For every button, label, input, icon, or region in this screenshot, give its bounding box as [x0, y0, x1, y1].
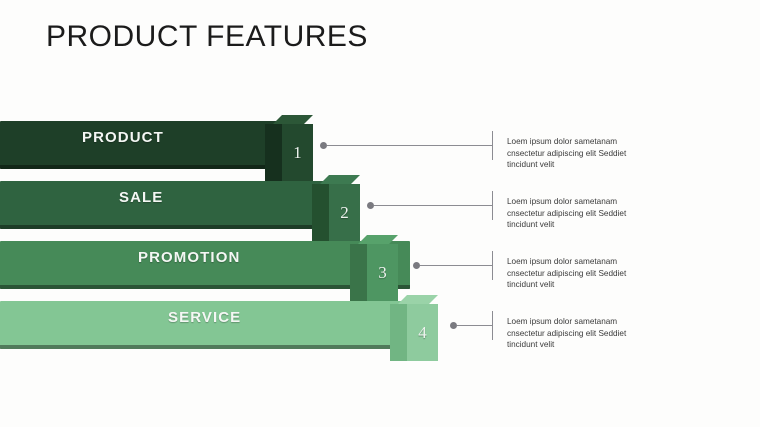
feature-cube-1[interactable]: 1	[265, 115, 313, 181]
feature-description-3: Loem ipsum dolor sametanam cnsectetur ad…	[507, 256, 657, 291]
connector-tick-4	[492, 311, 493, 340]
connector-tick-1	[492, 131, 493, 160]
slide-canvas: PRODUCT FEATURES PRODUCT 1 Loem ipsum do…	[0, 0, 760, 427]
feature-number-2: 2	[329, 184, 360, 241]
feature-label-1: PRODUCT	[82, 114, 164, 162]
feature-cube-4[interactable]: 4	[390, 295, 438, 361]
feature-cube-2[interactable]: 2	[312, 175, 360, 241]
connector-dot-3	[413, 262, 420, 269]
feature-bar-2[interactable]	[0, 181, 350, 229]
feature-label-4: SERVICE	[168, 294, 241, 342]
feature-cube-3[interactable]: 3	[350, 235, 398, 301]
feature-number-1: 1	[282, 124, 313, 181]
connector-tick-3	[492, 251, 493, 280]
connector-dot-2	[367, 202, 374, 209]
bar-shadow-1	[0, 165, 290, 169]
connector-tick-2	[492, 191, 493, 220]
page-title: PRODUCT FEATURES	[46, 20, 368, 54]
connector-dot-4	[450, 322, 457, 329]
bar-shadow-2	[0, 225, 350, 229]
feature-number-4: 4	[407, 304, 438, 361]
connector-line-2	[374, 205, 492, 206]
cube-left-face-4	[390, 304, 407, 361]
cube-left-face-1	[265, 124, 282, 181]
feature-number-3: 3	[367, 244, 398, 301]
connector-line-4	[457, 325, 492, 326]
connector-line-1	[327, 145, 492, 146]
cube-left-face-2	[312, 184, 329, 241]
cube-left-face-3	[350, 244, 367, 301]
connector-line-3	[420, 265, 492, 266]
feature-label-3: PROMOTION	[138, 234, 240, 282]
bar-shadow-4	[0, 345, 415, 349]
feature-label-2: SALE	[119, 174, 163, 222]
feature-description-1: Loem ipsum dolor sametanam cnsectetur ad…	[507, 136, 657, 171]
bar-shadow-3	[0, 285, 410, 289]
connector-dot-1	[320, 142, 327, 149]
feature-description-2: Loem ipsum dolor sametanam cnsectetur ad…	[507, 196, 657, 231]
feature-description-4: Loem ipsum dolor sametanam cnsectetur ad…	[507, 316, 657, 351]
